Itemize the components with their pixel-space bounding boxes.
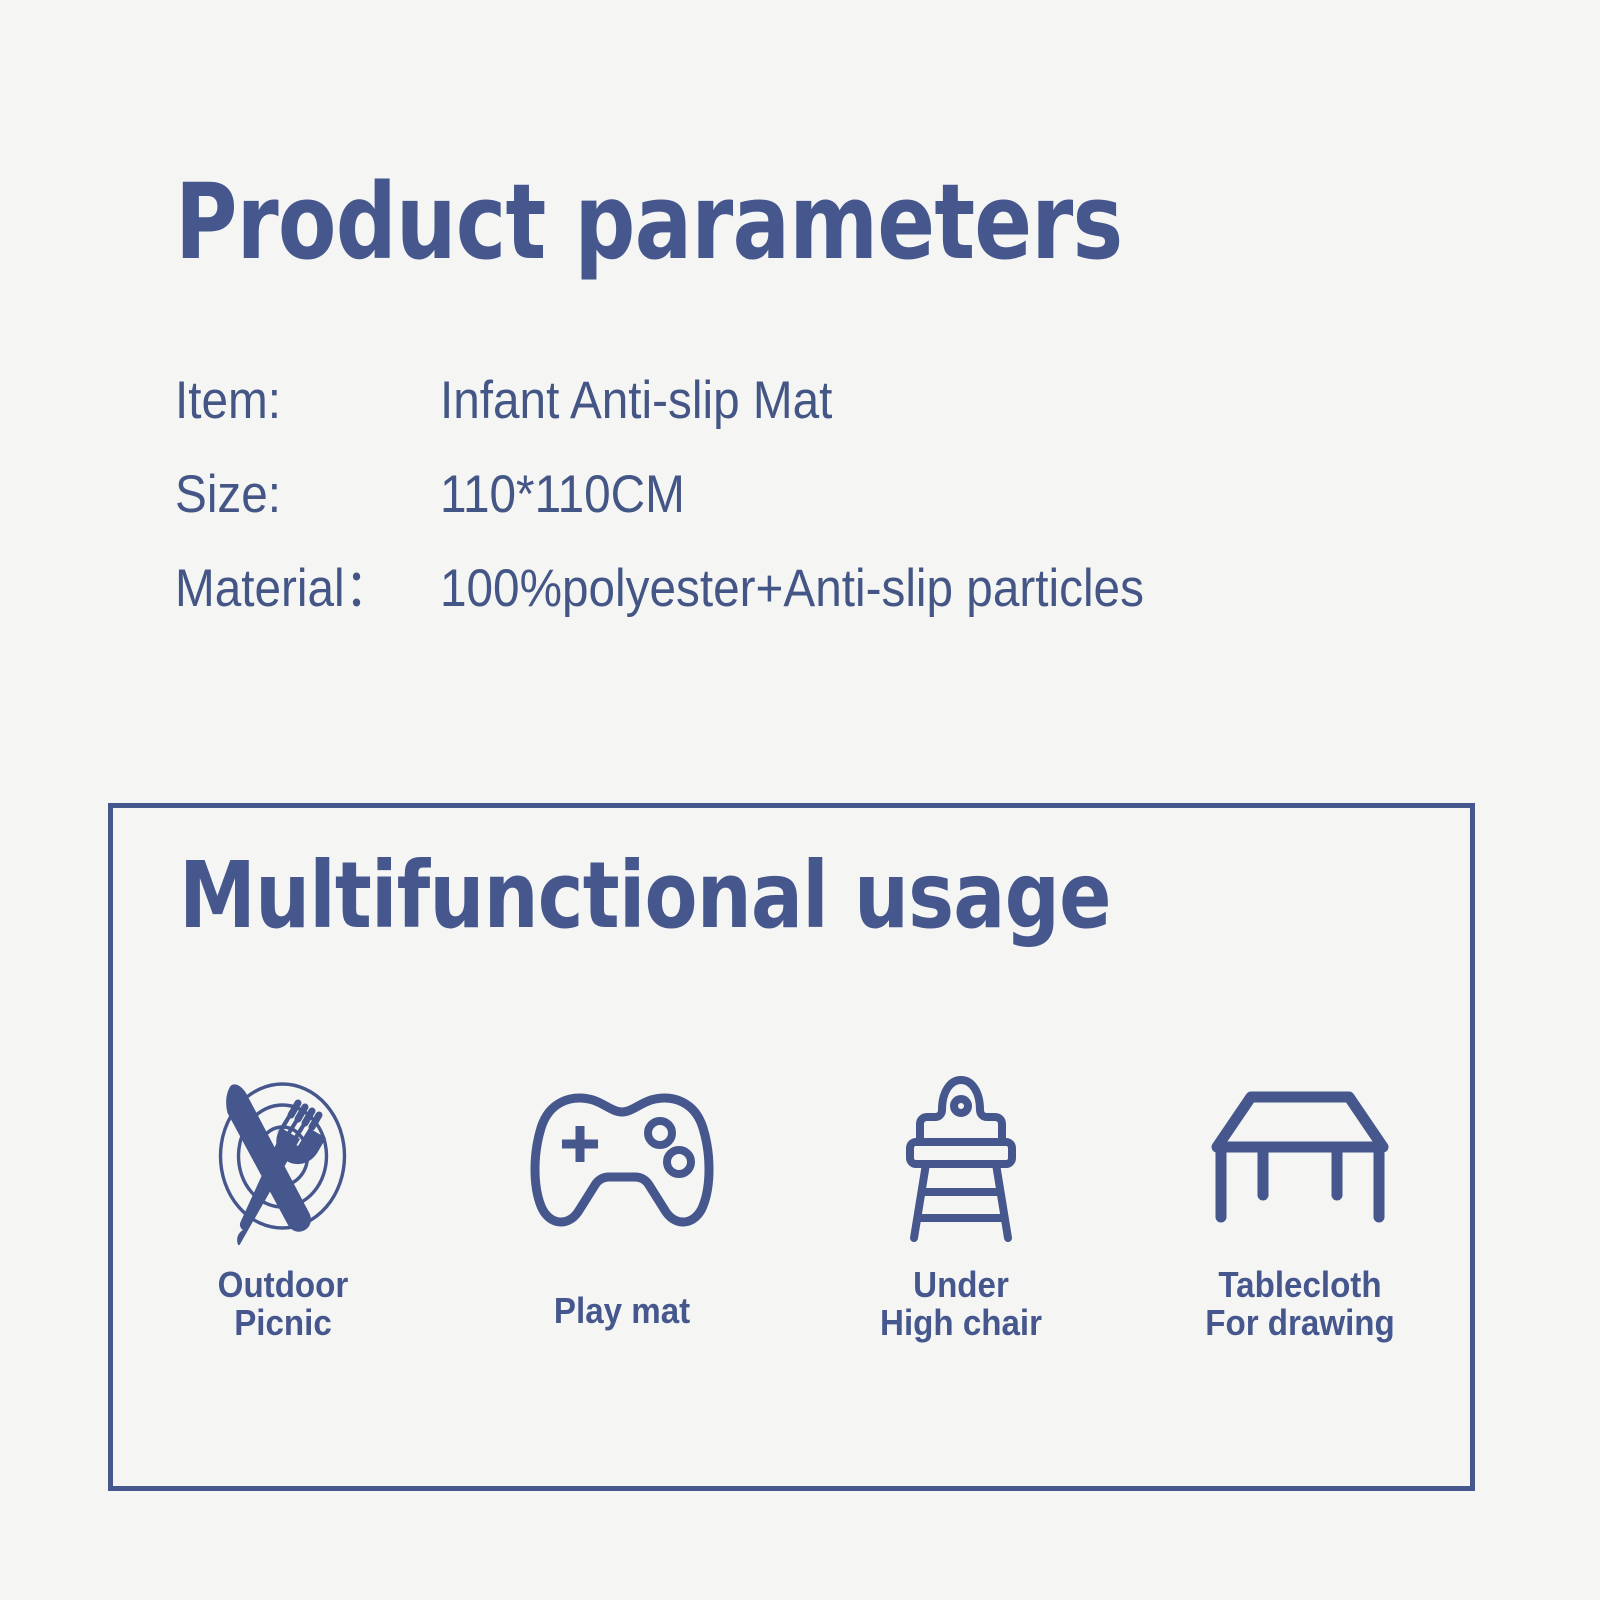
spec-row: Material： 100%polyester+Anti-slip partic…	[175, 560, 1475, 654]
usage-item-tablecloth: Tablecloth For drawing	[1131, 1063, 1470, 1342]
usage-caption-line2: For drawing	[1206, 1304, 1396, 1342]
page-title: Product parameters	[175, 166, 1122, 278]
usage-caption-line2: Picnic	[217, 1304, 348, 1342]
usage-item-grid: Outdoor Picnic Play mat	[113, 1063, 1470, 1342]
table-icon	[1207, 1063, 1393, 1248]
high-chair-icon	[886, 1063, 1036, 1248]
usage-item-play-mat: Play mat	[452, 1063, 791, 1342]
spec-label-size: Size:	[175, 466, 414, 524]
usage-item-outdoor-picnic: Outdoor Picnic	[113, 1063, 452, 1342]
spec-label-item: Item:	[175, 372, 414, 430]
usage-caption-line1: Under	[913, 1264, 1009, 1305]
spec-row: Item: Infant Anti-slip Mat	[175, 372, 1475, 466]
usage-caption-line1: Outdoor	[217, 1264, 348, 1305]
spec-value-size: 110*110CM	[440, 466, 685, 524]
product-parameters-list: Item: Infant Anti-slip Mat Size: 110*110…	[175, 372, 1475, 654]
usage-caption: Outdoor Picnic	[217, 1266, 348, 1342]
usage-item-under-high-chair: Under High chair	[792, 1063, 1131, 1342]
multifunctional-usage-panel: Multifunctional usage	[108, 803, 1475, 1491]
usage-panel-title: Multifunctional usage	[179, 846, 1111, 946]
usage-caption-line1: Tablecloth	[1219, 1264, 1382, 1305]
usage-caption: Tablecloth For drawing	[1206, 1266, 1396, 1342]
spec-label-material: Material：	[175, 560, 414, 618]
usage-caption-line1: Play mat	[554, 1290, 690, 1331]
cutlery-plate-icon	[195, 1063, 370, 1248]
usage-caption-line2: High chair	[880, 1304, 1042, 1342]
spec-value-material: 100%polyester+Anti-slip particles	[440, 560, 1144, 618]
usage-caption: Play mat	[554, 1292, 690, 1330]
spec-value-item: Infant Anti-slip Mat	[440, 372, 832, 430]
spec-row: Size: 110*110CM	[175, 466, 1475, 560]
gamepad-icon	[527, 1063, 717, 1248]
usage-caption: Under High chair	[880, 1266, 1042, 1342]
